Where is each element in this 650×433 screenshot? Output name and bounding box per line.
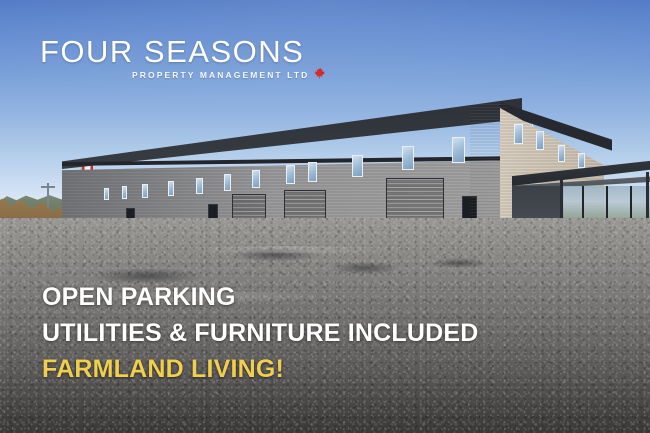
clerestory-window — [168, 181, 174, 196]
promo-line-3: FARMLAND LIVING! — [42, 355, 479, 384]
wing-window — [558, 145, 565, 162]
clerestory-window — [352, 155, 363, 177]
maple-leaf-icon — [314, 67, 327, 80]
clerestory-window — [252, 170, 260, 188]
clerestory-window — [286, 165, 295, 184]
wing-window — [514, 124, 523, 144]
logo-tagline: PROPERTY MANAGEMENT LTD — [132, 70, 309, 80]
promo-text-block: OPEN PARKING UTILITIES & FURNITURE INCLU… — [42, 283, 479, 384]
clerestory-window — [196, 178, 203, 194]
gravel-patch — [92, 268, 202, 284]
clerestory-window — [142, 184, 148, 198]
clerestory-window — [104, 188, 109, 200]
utility-pole-crossarm — [41, 186, 55, 188]
wing-window — [578, 153, 585, 168]
clerestory-window — [308, 162, 317, 182]
clerestory-window — [402, 146, 414, 170]
property-listing-photo: FOUR SEASONS PROPERTY MANAGEMENT LTD OPE… — [0, 0, 650, 433]
clerestory-window — [452, 137, 465, 163]
logo-tagline-row: PROPERTY MANAGEMENT LTD — [40, 69, 327, 80]
gravel-patch — [330, 262, 400, 274]
promo-line-1: OPEN PARKING — [42, 283, 479, 312]
gravel-patch — [430, 258, 488, 268]
clerestory-window — [122, 186, 127, 199]
clerestory-window — [224, 174, 231, 191]
promo-line-2: UTILITIES & FURNITURE INCLUDED — [42, 319, 479, 348]
logo-company-name: FOUR SEASONS — [40, 36, 327, 67]
company-logo: FOUR SEASONS PROPERTY MANAGEMENT LTD — [40, 36, 327, 80]
tire-track — [180, 246, 400, 253]
wing-window — [536, 131, 544, 150]
